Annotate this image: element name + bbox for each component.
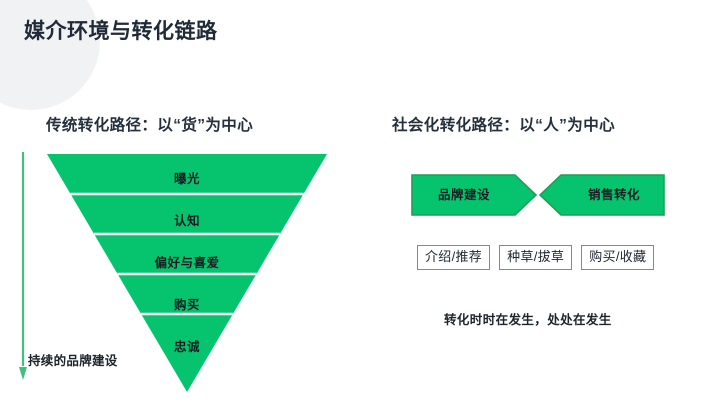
slide-canvas: 媒介环境与转化链路 传统转化路径：以“货”为中心 持续的品牌建设 曝光 认知 偏… bbox=[0, 0, 720, 406]
chevron-right-icon bbox=[411, 174, 537, 216]
left-section-heading: 传统转化路径：以“货”为中心 bbox=[46, 113, 253, 135]
brand-building-arrow-label: 持续的品牌建设 bbox=[28, 350, 118, 369]
right-section-heading: 社会化转化路径：以“人”为中心 bbox=[392, 113, 615, 135]
tag-item: 种草/拔草 bbox=[499, 245, 572, 270]
page-title: 媒介环境与转化链路 bbox=[24, 15, 218, 45]
tag-item: 介绍/推荐 bbox=[417, 245, 490, 270]
chevron-sales-conversion: 销售转化 bbox=[539, 174, 665, 216]
chevron-left-icon bbox=[539, 174, 665, 216]
right-panel-caption: 转化时时在发生，处处在发生 bbox=[444, 309, 612, 328]
tag-row: 介绍/推荐 种草/拔草 购买/收藏 bbox=[417, 245, 654, 270]
chevron-row: 品牌建设 销售转化 bbox=[411, 174, 665, 216]
brand-building-arrow bbox=[18, 152, 32, 380]
chevron-brand-building: 品牌建设 bbox=[411, 174, 537, 216]
tag-item: 购买/收藏 bbox=[581, 245, 654, 270]
